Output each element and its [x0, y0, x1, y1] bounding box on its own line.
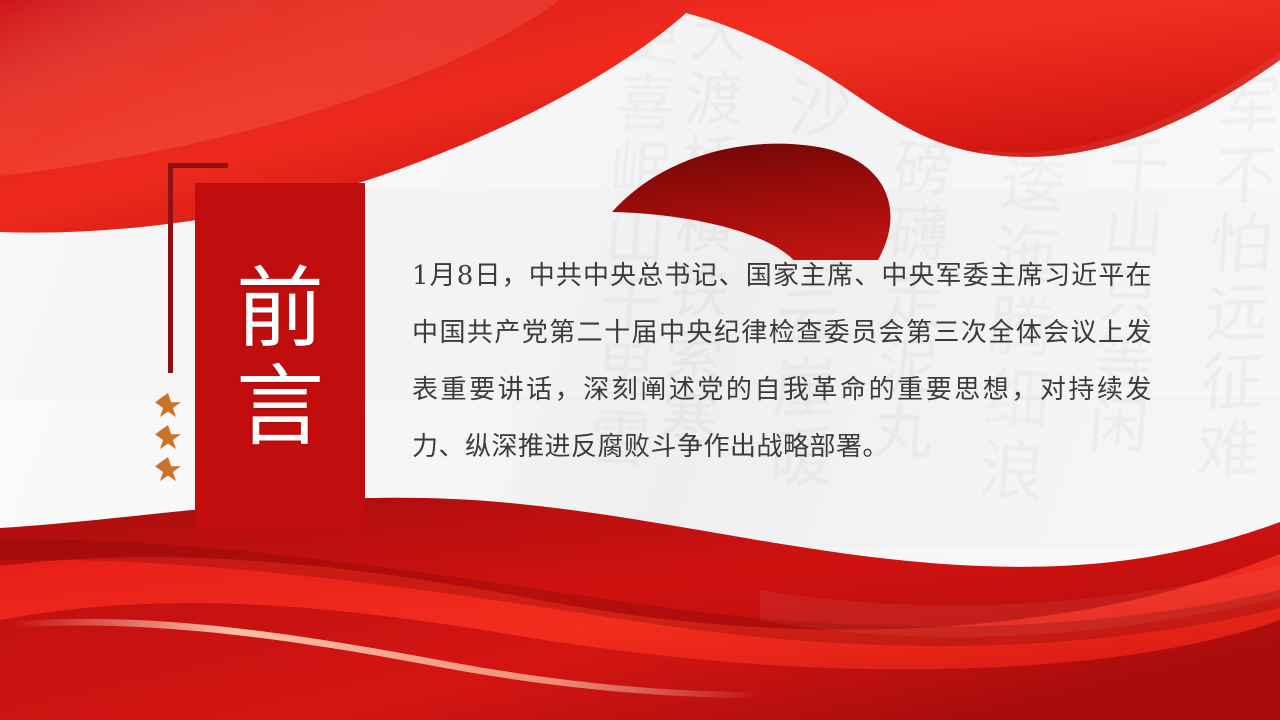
title-char-first: 前: [236, 265, 324, 353]
body-paragraph: 1月8日，中共中央总书记、国家主席、中央军委主席习近平在中国共产党第二十届中央纪…: [412, 248, 1152, 476]
star-icon: [155, 393, 181, 419]
star-icon: [155, 425, 181, 451]
title-char-second: 言: [236, 363, 324, 451]
title-panel: 前 言: [195, 183, 365, 532]
star-decoration-group: [155, 393, 181, 483]
presentation-slide: 更喜岷山千里雪 大渡桥横铁索寒 金沙水拍云崖暖 乌蒙磅礴走泥丸 五岭逶迤腾细浪 …: [0, 0, 1280, 720]
star-icon: [155, 457, 181, 483]
